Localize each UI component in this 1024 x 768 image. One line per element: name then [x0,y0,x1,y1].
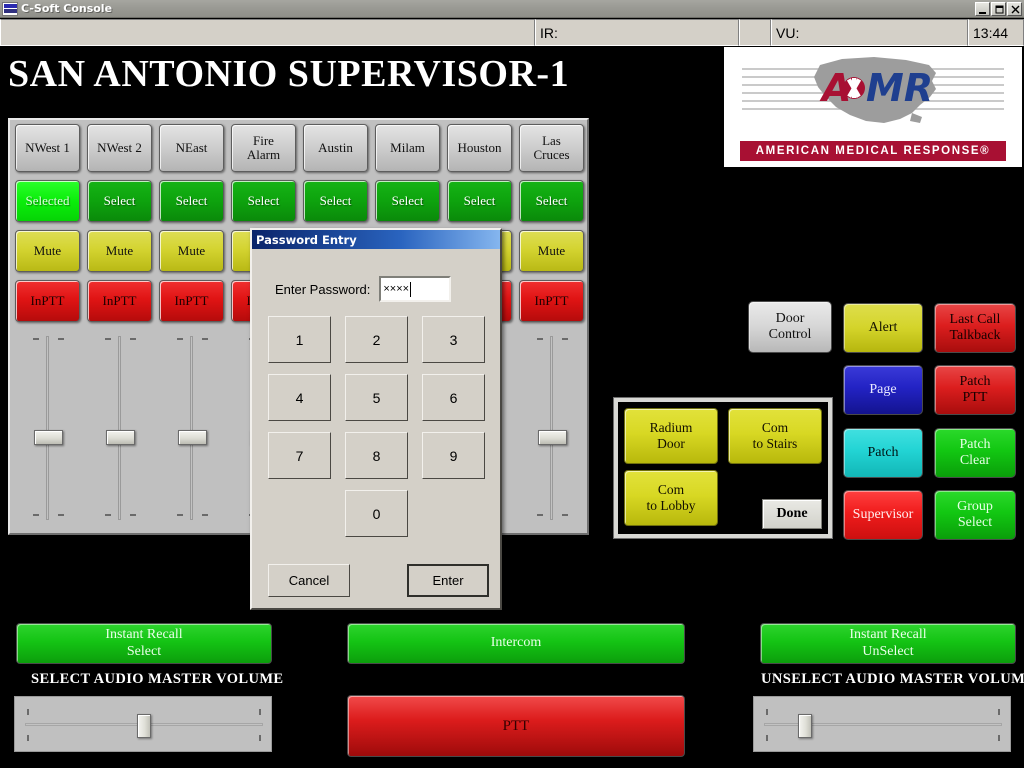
channel-fader-3[interactable] [159,330,224,526]
channel-mute-button-8[interactable]: Mute [519,230,584,272]
door-button-com-to-lobby[interactable]: Comto Lobby [624,470,718,526]
keypad-key-4[interactable]: 4 [268,374,331,421]
fader-tick [177,338,183,340]
fader-thumb[interactable] [106,430,135,445]
fader-tick [202,338,208,340]
channel-select-button-1[interactable]: Selected [15,180,80,222]
function-patch[interactable]: Patch [843,428,923,478]
channel-select-button-5[interactable]: Select [303,180,368,222]
slider-thumb[interactable] [137,714,151,738]
slider-tick [259,735,261,741]
fader-tick [33,338,39,340]
channel-select-button-4[interactable]: Select [231,180,296,222]
status-bar: IR: VU: 13:44 [0,19,1024,46]
channel-select-button-8[interactable]: Select [519,180,584,222]
ptt-button[interactable]: PTT [347,695,685,757]
channel-fader-2[interactable] [87,330,152,526]
function-door-control[interactable]: DoorControl [748,301,832,353]
channel-select-button-6[interactable]: Select [375,180,440,222]
slider-tick [27,735,29,741]
page-title: SAN ANTONIO SUPERVISOR-1 [8,52,569,96]
fader-tick [33,514,39,516]
minimize-icon[interactable] [975,2,990,16]
channel-inptt-button-1[interactable]: InPTT [15,280,80,322]
channel-strip-1: NWest 1SelectedMuteInPTT [15,124,80,526]
channel-select-button-2[interactable]: Select [87,180,152,222]
fader-tick [537,514,543,516]
slider-tick [998,735,1000,741]
fader-tick [202,514,208,516]
select-volume-slider[interactable] [14,696,272,752]
channel-mute-button-2[interactable]: Mute [87,230,152,272]
status-ir-cell: IR: [535,19,739,46]
dialog-title: Password Entry [252,230,500,249]
function-alert[interactable]: Alert [843,303,923,353]
restore-icon[interactable] [991,2,1006,16]
channel-inptt-button-3[interactable]: InPTT [159,280,224,322]
slider-tick [766,735,768,741]
channel-name-button-4[interactable]: FireAlarm [231,124,296,172]
password-label: Enter Password: [275,282,370,297]
password-row: Enter Password: ×××× [252,274,500,304]
channel-strip-2: NWest 2SelectMuteInPTT [87,124,152,526]
channel-name-button-2[interactable]: NWest 2 [87,124,152,172]
fader-tick [177,514,183,516]
fader-tick [130,338,136,340]
text-caret [410,282,411,297]
fader-thumb[interactable] [34,430,63,445]
door-control-panel: RadiumDoor Comto Stairs Comto Lobby Done [614,398,832,538]
keypad-key-6[interactable]: 6 [422,374,485,421]
status-gap-cell [739,19,771,46]
window-titlebar: C-Soft Console [0,0,1024,18]
status-vu-cell: VU: [771,19,968,46]
unselect-volume-label: UNSELECT AUDIO MASTER VOLUME [761,671,1024,688]
app-icon [2,2,18,16]
channel-name-button-1[interactable]: NWest 1 [15,124,80,172]
password-value: ×××× [383,283,409,295]
door-button-com-to-stairs[interactable]: Comto Stairs [728,408,822,464]
channel-mute-button-3[interactable]: Mute [159,230,224,272]
fader-rail [190,336,193,520]
dialog-cancel-button[interactable]: Cancel [268,564,350,597]
fader-tick [537,338,543,340]
keypad-key-8[interactable]: 8 [345,432,408,479]
amr-logo-banner: AMERICAN MEDICAL RESPONSE® [740,141,1006,161]
fader-tick [105,338,111,340]
channel-fader-1[interactable] [15,330,80,526]
close-icon[interactable] [1007,2,1022,16]
fader-tick [58,338,64,340]
function-patch-clear[interactable]: PatchClear [934,428,1016,478]
intercom-button[interactable]: Intercom [347,623,685,664]
fader-rail [118,336,121,520]
channel-name-button-8[interactable]: LasCruces [519,124,584,172]
slider-tick [259,709,261,715]
keypad-key-0[interactable]: 0 [345,490,408,537]
function-last-call-talkback[interactable]: Last CallTalkback [934,303,1016,353]
channel-select-button-3[interactable]: Select [159,180,224,222]
status-clock: 13:44 [968,19,1024,46]
door-button-radium-door[interactable]: RadiumDoor [624,408,718,464]
fader-tick [562,514,568,516]
function-group-select[interactable]: GroupSelect [934,490,1016,540]
channel-name-button-5[interactable]: Austin [303,124,368,172]
channel-select-button-7[interactable]: Select [447,180,512,222]
fader-tick [130,514,136,516]
fader-thumb[interactable] [178,430,207,445]
password-entry-dialog: Password Entry Enter Password: ×××× 1234… [250,228,502,610]
password-input[interactable]: ×××× [379,276,451,302]
channel-inptt-button-8[interactable]: InPTT [519,280,584,322]
slider-tick [27,709,29,715]
fader-tick [58,514,64,516]
dialog-enter-button[interactable]: Enter [407,564,489,597]
instant-recall-unselect-button[interactable]: Instant RecallUnSelect [760,623,1016,664]
channel-strip-3: NEastSelectMuteInPTT [159,124,224,526]
select-volume-label: SELECT AUDIO MASTER VOLUME [31,671,284,688]
svg-text:MR: MR [866,66,933,110]
amr-logo: A MR AMERICAN MEDICAL RESPONSE® [724,47,1022,167]
fader-rail [46,336,49,520]
unselect-volume-slider[interactable] [753,696,1011,752]
channel-name-button-3[interactable]: NEast [159,124,224,172]
window-title: C-Soft Console [21,2,112,15]
csoft-console-window: C-Soft Console IR: VU: 13:44 SAN ANTONIO… [0,0,1024,768]
keypad-key-5[interactable]: 5 [345,374,408,421]
keypad-key-3[interactable]: 3 [422,316,485,363]
window-controls [975,2,1024,16]
slider-thumb[interactable] [798,714,812,738]
function-page[interactable]: Page [843,365,923,415]
function-patch-ptt[interactable]: PatchPTT [934,365,1016,415]
keypad-key-9[interactable]: 9 [422,432,485,479]
channel-inptt-button-2[interactable]: InPTT [87,280,152,322]
fader-tick [105,514,111,516]
amr-logo-art: A MR [724,51,1022,129]
channel-name-button-6[interactable]: Milam [375,124,440,172]
door-done-button[interactable]: Done [762,499,822,529]
channel-mute-button-1[interactable]: Mute [15,230,80,272]
slider-tick [998,709,1000,715]
channel-strip-8: LasCrucesSelectMuteInPTT [519,124,584,526]
fader-rail [550,336,553,520]
instant-recall-select-button[interactable]: Instant RecallSelect [16,623,272,664]
channel-fader-8[interactable] [519,330,584,526]
keypad-key-2[interactable]: 2 [345,316,408,363]
keypad-key-7[interactable]: 7 [268,432,331,479]
channel-name-button-7[interactable]: Houston [447,124,512,172]
fader-tick [562,338,568,340]
status-blank-cell [0,19,535,46]
fader-thumb[interactable] [538,430,567,445]
keypad-key-1[interactable]: 1 [268,316,331,363]
function-supervisor[interactable]: Supervisor [843,490,923,540]
slider-tick [766,709,768,715]
